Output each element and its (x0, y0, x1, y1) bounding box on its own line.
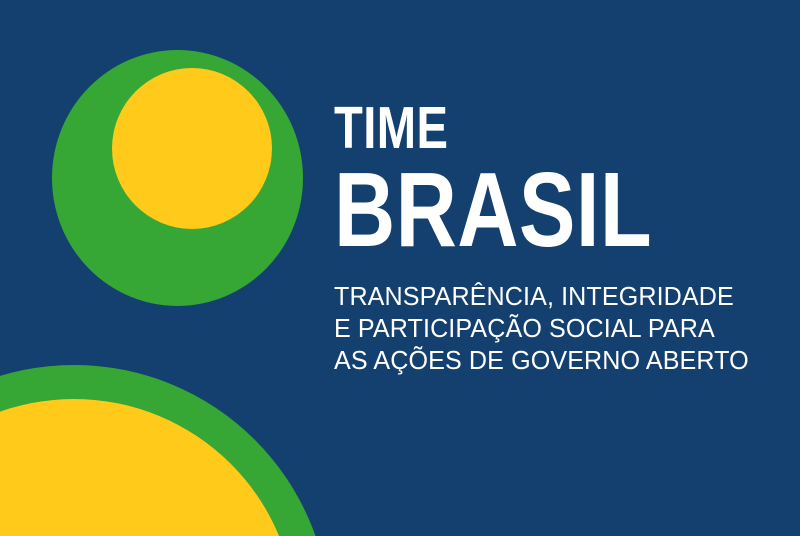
headline-brasil: BRASIL (334, 156, 696, 258)
corner-yellow-arc (0, 399, 296, 536)
headline-time: TIME (334, 96, 696, 156)
subtitle-line-1: TRANSPARÊNCIA, INTEGRIDADE (334, 281, 779, 313)
logo-yellow-circle (112, 68, 272, 229)
subtitle-line-2: E PARTICIPAÇÃO SOCIAL PARA (334, 313, 779, 345)
text-block: TIME BRASIL TRANSPARÊNCIA, INTEGRIDADE E… (334, 96, 786, 377)
subtitle: TRANSPARÊNCIA, INTEGRIDADE E PARTICIPAÇÃ… (334, 258, 779, 377)
poster-canvas: TIME BRASIL TRANSPARÊNCIA, INTEGRIDADE E… (0, 0, 800, 536)
logo-green-circle (52, 50, 303, 306)
corner-green-arc (0, 365, 330, 536)
subtitle-line-3: AS AÇÕES DE GOVERNO ABERTO (334, 345, 779, 377)
